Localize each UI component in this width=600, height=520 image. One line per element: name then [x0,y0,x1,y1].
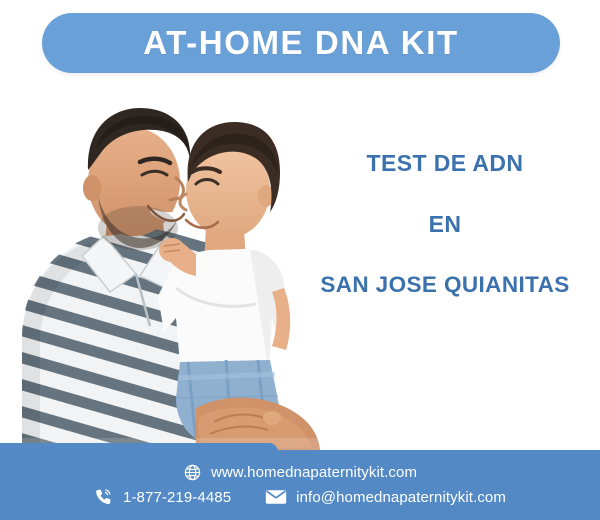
footer-website[interactable]: www.homednapaternitykit.com [183,463,417,482]
footer-phone[interactable]: 1-877-219-4485 [94,487,231,507]
footer-email[interactable]: info@homednapaternitykit.com [265,488,506,506]
phone-icon [94,487,114,507]
page-title: AT-HOME DNA KIT [143,24,458,62]
envelope-icon [265,488,287,506]
header-banner: AT-HOME DNA KIT [42,13,560,73]
footer-website-label: www.homednapaternitykit.com [211,464,417,481]
globe-icon [183,463,202,482]
headline-line-3: SAN JOSE QUIANITAS [296,274,594,297]
footer-contact-block: www.homednapaternitykit.com 1-877-219-44… [0,450,600,520]
headline-block: TEST DE ADN EN SAN JOSE QUIANITAS [296,152,594,297]
headline-line-1: TEST DE ADN [296,152,594,175]
headline-line-2: EN [296,213,594,236]
footer-phone-email-row: 1-877-219-4485 info@homednapaternitykit.… [94,487,506,507]
poster-canvas: AT-HOME DNA KIT [0,0,600,520]
footer-website-row: www.homednapaternitykit.com [183,463,417,482]
footer-phone-label: 1-877-219-4485 [123,489,231,506]
family-photo [0,78,330,468]
footer-email-label: info@homednapaternitykit.com [296,489,506,506]
family-photo-illustration [0,78,330,468]
